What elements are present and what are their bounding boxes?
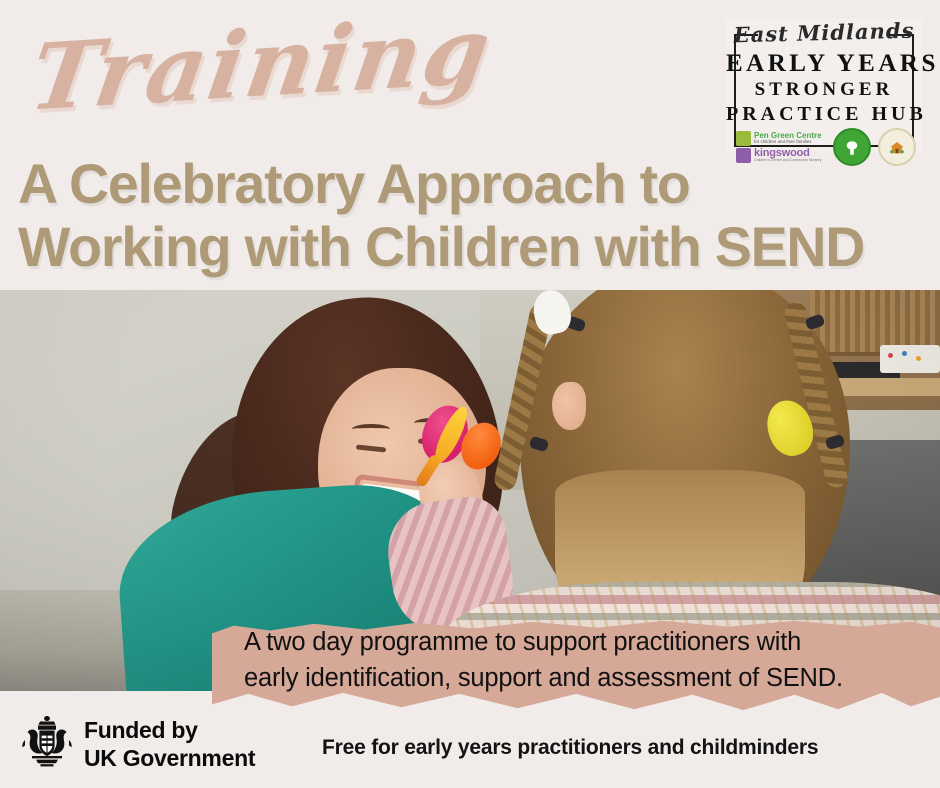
free-for-practitioners-strapline: Free for early years practitioners and c… (322, 736, 922, 760)
early-years-hub-logo: East Midlands EARLY YEARS STRONGER PRACT… (726, 18, 922, 152)
partner-logo-strip: Pen Green Centre for children and their … (736, 126, 916, 168)
shelf-item (880, 345, 940, 373)
partner-pen-green-tagline: for children and their families (754, 140, 822, 145)
uk-royal-coat-of-arms-icon (16, 714, 78, 770)
child-ear (552, 382, 586, 430)
tree-badge-icon (833, 128, 871, 166)
funded-by-uk-government-label: Funded by UK Government (84, 716, 255, 772)
house-badge-icon (878, 128, 916, 166)
caption-text: A two day programme to support practitio… (244, 624, 934, 697)
logo-script-line: East Midlands (726, 17, 923, 47)
logo-line-early-years: EARLY YEARS (726, 50, 922, 78)
poster-canvas: Training A Celebratory Approach to Worki… (0, 0, 940, 788)
partner-wordmarks: Pen Green Centre for children and their … (736, 131, 826, 163)
logo-line-stronger: STRONGER (726, 79, 922, 101)
page-title: A Celebratory Approach to Working with C… (18, 152, 921, 279)
partner-pen-green: Pen Green Centre for children and their … (736, 131, 826, 146)
partner-kingswood: kingswood Children's Centre and Communit… (736, 148, 826, 163)
kingswood-mark-icon (736, 148, 751, 163)
partner-kingswood-tagline: Children's Centre and Community Nursery (754, 159, 821, 163)
logo-line-practice-hub: PRACTICE HUB (726, 103, 922, 126)
eyebrow-training-script: Training (25, 4, 498, 124)
pen-green-mark-icon (736, 131, 751, 146)
